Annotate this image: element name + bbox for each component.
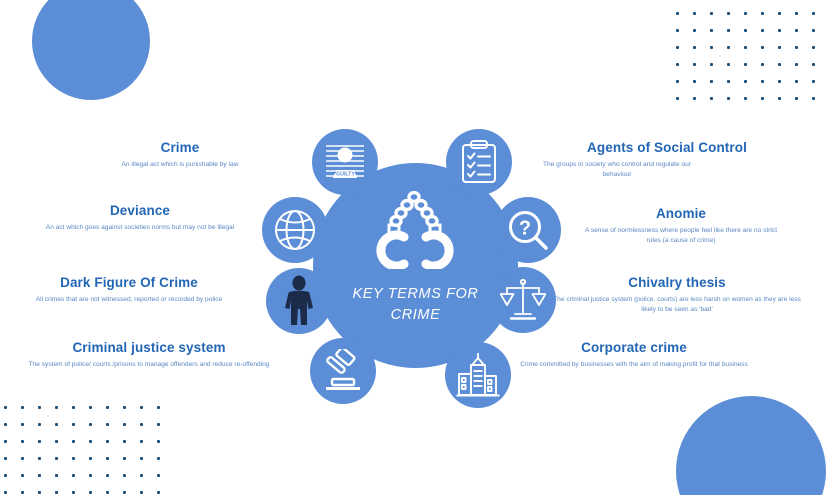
- term-dark-figure-title: Dark Figure Of Crime: [0, 275, 258, 291]
- term-chivalry-description: The criminal justice system (police, cou…: [548, 295, 806, 315]
- handcuffs-icon: [373, 191, 459, 269]
- bottom-right-decorative-circle: [676, 396, 826, 495]
- term-deviance: Deviance An act which goes against socie…: [20, 203, 260, 233]
- icon-bubble-globe[interactable]: [262, 197, 328, 263]
- term-anomie-title: Anomie: [550, 206, 812, 222]
- term-criminal-justice-system-description: The system of police/ courts /prisons to…: [20, 360, 278, 370]
- mugshot-guilty-label: GUILTY: [336, 172, 355, 178]
- gavel-icon: [320, 349, 366, 393]
- term-chivalry-thesis: Chivalry thesis The criminal justice sys…: [548, 275, 806, 316]
- term-deviance-description: An act which goes against societies norm…: [20, 223, 260, 233]
- icon-bubble-question[interactable]: ?: [495, 197, 561, 263]
- term-dark-figure-description: All crimes that are not witnessed, repor…: [0, 295, 258, 305]
- top-left-decorative-circle: [32, 0, 150, 100]
- infographic-canvas: Crime An illegal act which is punishable…: [0, 0, 828, 495]
- term-anomie: Anomie A sense of normlessness where peo…: [550, 206, 812, 247]
- magnifier-question-icon: ?: [506, 208, 550, 252]
- term-deviance-title: Deviance: [20, 203, 260, 219]
- icon-bubble-scales[interactable]: [490, 267, 556, 333]
- icon-bubble-mugshot[interactable]: GUILTY: [312, 129, 378, 195]
- icon-bubble-shadow-figure[interactable]: [266, 268, 332, 334]
- central-hub-title: KEY TERMS FOR CRIME: [341, 284, 491, 326]
- mugshot-guilty-icon: GUILTY: [323, 142, 367, 182]
- icon-bubble-clipboard[interactable]: [446, 129, 512, 195]
- term-chivalry-title: Chivalry thesis: [548, 275, 806, 291]
- shadow-figure-icon: [282, 275, 316, 327]
- central-cluster: KEY TERMS FOR CRIME: [250, 125, 580, 415]
- svg-text:?: ?: [519, 218, 531, 240]
- scales-of-justice-icon: [500, 278, 546, 322]
- office-buildings-icon: [455, 352, 501, 398]
- term-anomie-description: A sense of normlessness where people fee…: [581, 226, 781, 246]
- clipboard-checklist-icon: [459, 139, 499, 185]
- globe-icon: [272, 207, 318, 253]
- icon-bubble-gavel[interactable]: [310, 338, 376, 404]
- term-dark-figure-of-crime: Dark Figure Of Crime All crimes that are…: [0, 275, 258, 305]
- term-criminal-justice-system-title: Criminal justice system: [20, 340, 278, 356]
- icon-bubble-buildings[interactable]: [445, 342, 511, 408]
- term-criminal-justice-system: Criminal justice system The system of po…: [20, 340, 278, 370]
